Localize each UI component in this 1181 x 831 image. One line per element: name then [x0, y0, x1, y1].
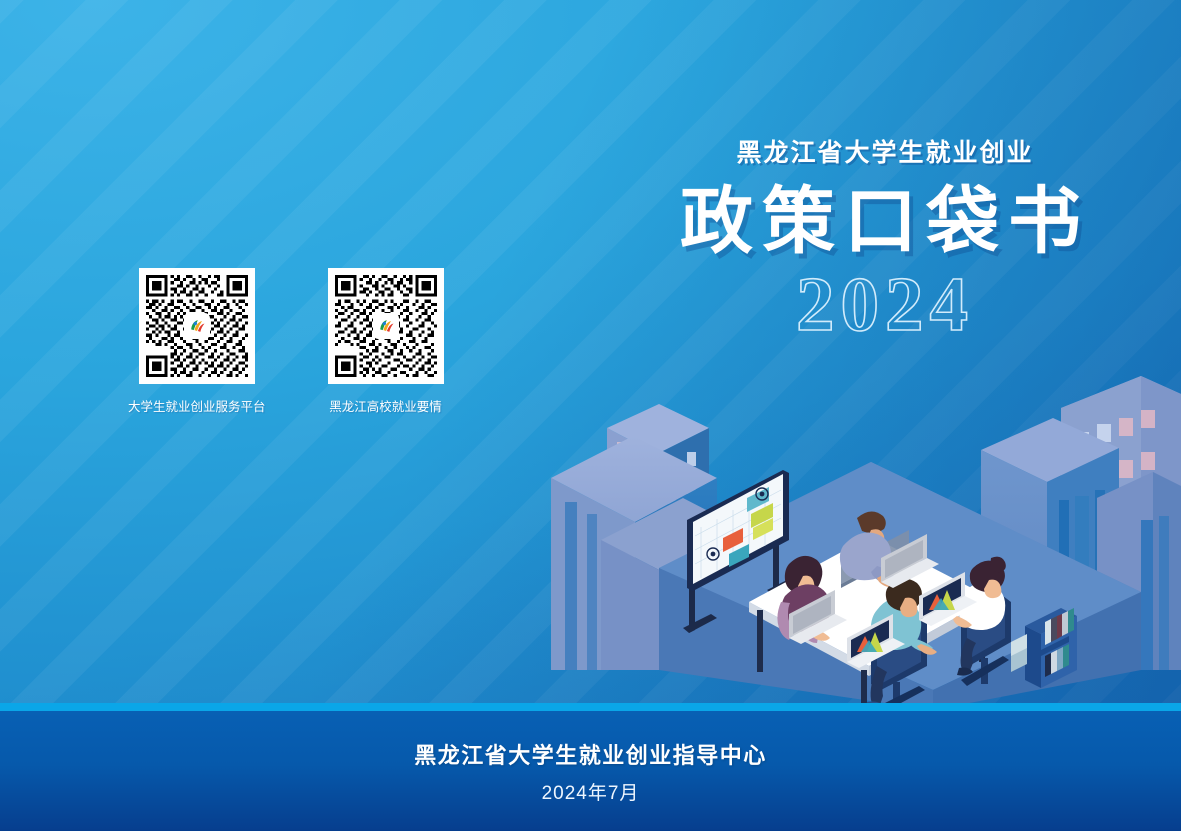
qr-caption: 大学生就业创业服务平台 [128, 396, 266, 415]
footer-organization: 黑龙江省大学生就业创业指导中心 [414, 738, 767, 770]
qr-item-employment-bulletin[interactable]: 黑龙江高校就业要情 [328, 268, 444, 415]
qr-item-service-platform[interactable]: 大学生就业创业服务平台 [128, 268, 266, 415]
cover-subtitle: 黑龙江省大学生就业创业 [675, 140, 1095, 168]
qr-code-group: 大学生就业创业服务平台 [128, 268, 444, 415]
isometric-office-illustration [541, 370, 1181, 710]
footer-band: 黑龙江省大学生就业创业指导中心 2024年7月 [0, 711, 1181, 831]
footer-date: 2024年7月 [542, 778, 640, 805]
qr-code-icon[interactable] [139, 268, 255, 384]
cover-main-title: 政策口袋书 [675, 184, 1095, 261]
qr-code-icon[interactable] [328, 268, 444, 384]
book-cover: 黑龙江省大学生就业创业 政策口袋书 2024 [0, 0, 1181, 831]
cover-year: 2024 [675, 266, 1095, 343]
qr-caption: 黑龙江高校就业要情 [329, 396, 442, 415]
service-platform-logo-icon [373, 313, 399, 339]
footer-accent-strip [0, 703, 1181, 711]
service-platform-logo-icon [184, 313, 210, 339]
title-block: 黑龙江省大学生就业创业 政策口袋书 2024 [675, 140, 1095, 343]
